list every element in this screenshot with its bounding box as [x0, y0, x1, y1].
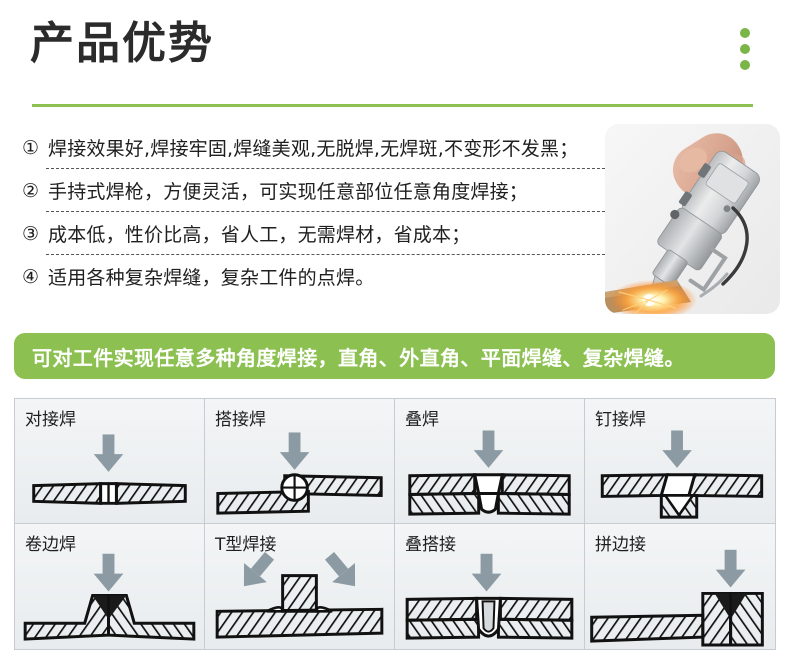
down-arrow-icon — [94, 434, 124, 471]
highlight-banner-text: 可对工件实现任意多种角度焊接，直角、外直角、平面焊缝、复杂焊缝。 — [32, 342, 685, 371]
list-item-marker: ② — [22, 180, 48, 202]
dot-1-icon — [740, 28, 750, 38]
list-item-label: 焊接效果好,焊接牢固,焊缝美观,无脱焊,无焊斑,不变形不发黑； — [48, 134, 578, 161]
list-item-marker: ③ — [22, 223, 48, 245]
list-item-label: 手持式焊枪，方便灵活，可实现任意部位任意角度焊接； — [48, 177, 528, 204]
list-item: ④ 适用各种复杂焊缝，复杂工件的点焊。 — [22, 255, 622, 298]
list-item-marker: ① — [22, 137, 48, 159]
weld-type-label: T型焊接 — [215, 530, 276, 555]
list-item: ③ 成本低，性价比高，省人工，无需焊材，省成本； — [22, 212, 622, 255]
weld-type-cell[interactable]: 搭接焊 — [205, 399, 395, 524]
highlight-banner: 可对工件实现任意多种角度焊接，直角、外直角、平面焊缝、复杂焊缝。 — [14, 333, 775, 379]
down-arrow-icon — [280, 432, 310, 469]
down-arrow-icon — [472, 554, 502, 592]
down-arrow-icon — [474, 430, 504, 467]
weld-type-label: 对接焊 — [25, 405, 76, 430]
dot-2-icon — [740, 44, 750, 54]
down-arrow-icon — [662, 430, 692, 467]
welding-gun-illustration — [605, 124, 780, 314]
page-title: 产品优势 — [30, 22, 214, 66]
list-item-label: 适用各种复杂焊缝，复杂工件的点焊。 — [48, 263, 374, 290]
weld-type-cell[interactable]: 拼边接 — [585, 524, 775, 649]
weld-type-label: 卷边焊 — [25, 530, 76, 555]
product-photo — [605, 124, 780, 314]
title-underline-rule — [32, 104, 753, 107]
three-dots-icon — [740, 28, 750, 70]
dot-3-icon — [740, 60, 750, 70]
weld-type-label: 叠搭接 — [405, 530, 456, 555]
weld-type-label: 钉接焊 — [595, 405, 646, 430]
down-arrow-icon — [716, 550, 746, 588]
weld-type-label: 拼边接 — [595, 530, 646, 555]
list-item-label: 成本低，性价比高，省人工，无需焊材，省成本； — [48, 220, 470, 247]
down-arrow-icon — [94, 554, 124, 592]
weld-type-cell[interactable]: 叠搭接 — [395, 524, 585, 649]
weld-type-cell[interactable]: 钉接焊 — [585, 399, 775, 524]
weld-type-cell[interactable]: T型焊接 — [205, 524, 395, 649]
page-header: 产品优势 — [0, 0, 790, 108]
weld-type-label: 搭接焊 — [215, 405, 266, 430]
list-item-marker: ④ — [22, 266, 48, 288]
weld-type-grid: 对接焊 搭接焊 — [14, 398, 776, 650]
weld-type-cell[interactable]: 对接焊 — [15, 399, 205, 524]
weld-type-cell[interactable]: 卷边焊 — [15, 524, 205, 649]
list-item: ② 手持式焊枪，方便灵活，可实现任意部位任意角度焊接； — [22, 169, 622, 212]
weld-type-label: 叠焊 — [405, 405, 439, 430]
arrow-right-down-icon — [318, 546, 366, 596]
weld-type-cell[interactable]: 叠焊 — [395, 399, 585, 524]
list-item: ① 焊接效果好,焊接牢固,焊缝美观,无脱焊,无焊斑,不变形不发黑； — [22, 126, 622, 169]
feature-list: ① 焊接效果好,焊接牢固,焊缝美观,无脱焊,无焊斑,不变形不发黑； ② 手持式焊… — [22, 126, 622, 298]
